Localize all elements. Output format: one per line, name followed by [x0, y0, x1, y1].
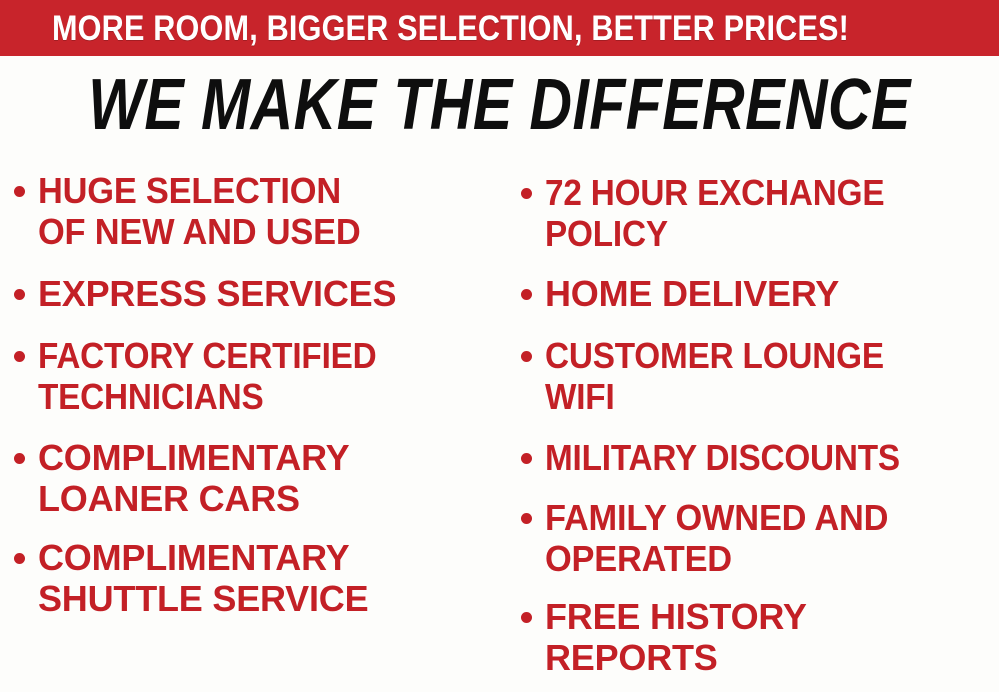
- page-title: WE MAKE THE DIFFERENCE: [88, 69, 910, 141]
- bullet-dot-icon: [521, 289, 532, 300]
- bullet-dot-icon: [521, 351, 532, 362]
- list-item-label: HOME DELIVERY: [545, 273, 839, 314]
- bullet-dot-icon: [14, 453, 25, 464]
- bullet-dot-icon: [14, 186, 25, 197]
- list-item: COMPLIMENTARY LOANER CARS: [14, 437, 349, 519]
- benefits-column-left: HUGE SELECTION OF NEW AND USED EXPRESS S…: [0, 156, 512, 692]
- list-item-label: HUGE SELECTION OF NEW AND USED: [38, 170, 360, 252]
- list-item: FREE HISTORY REPORTS: [521, 596, 807, 678]
- bullet-dot-icon: [14, 553, 25, 564]
- bullet-dot-icon: [14, 289, 25, 300]
- list-item-label: COMPLIMENTARY SHUTTLE SERVICE: [38, 537, 368, 619]
- list-item: FAMILY OWNED AND OPERATED: [521, 497, 905, 579]
- bullet-dot-icon: [14, 351, 25, 362]
- list-item: FACTORY CERTIFIED TECHNICIANS: [14, 335, 404, 417]
- bullet-dot-icon: [521, 513, 532, 524]
- list-item-label: MILITARY DISCOUNTS: [545, 437, 900, 478]
- list-item: HUGE SELECTION OF NEW AND USED: [14, 170, 376, 252]
- list-item-label: FREE HISTORY REPORTS: [545, 596, 807, 678]
- list-item-label: EXPRESS SERVICES: [38, 273, 396, 314]
- list-item: CUSTOMER LOUNGE WIFI: [521, 335, 911, 417]
- list-item-label: FACTORY CERTIFIED TECHNICIANS: [38, 335, 377, 417]
- list-item-label: COMPLIMENTARY LOANER CARS: [38, 437, 349, 519]
- list-item: COMPLIMENTARY SHUTTLE SERVICE: [14, 537, 368, 619]
- headline-container: WE MAKE THE DIFFERENCE: [0, 66, 999, 144]
- benefits-columns: HUGE SELECTION OF NEW AND USED EXPRESS S…: [0, 156, 999, 692]
- list-item: HOME DELIVERY: [521, 273, 839, 314]
- bullet-dot-icon: [521, 188, 532, 199]
- list-item-label: 72 HOUR EXCHANGE POLICY: [545, 172, 884, 254]
- list-item: 72 HOUR EXCHANGE POLICY: [521, 172, 912, 254]
- top-banner: MORE ROOM, BIGGER SELECTION, BETTER PRIC…: [0, 0, 999, 56]
- list-item: EXPRESS SERVICES: [14, 273, 396, 314]
- list-item-label: CUSTOMER LOUNGE WIFI: [545, 335, 884, 417]
- bullet-dot-icon: [521, 612, 532, 623]
- top-banner-text: MORE ROOM, BIGGER SELECTION, BETTER PRIC…: [52, 11, 849, 46]
- promotional-poster: MORE ROOM, BIGGER SELECTION, BETTER PRIC…: [0, 0, 999, 692]
- list-item: MILITARY DISCOUNTS: [521, 437, 929, 478]
- bullet-dot-icon: [521, 453, 532, 464]
- list-item-label: FAMILY OWNED AND OPERATED: [545, 497, 888, 579]
- benefits-column-right: 72 HOUR EXCHANGE POLICY HOME DELIVERY CU…: [512, 156, 999, 692]
